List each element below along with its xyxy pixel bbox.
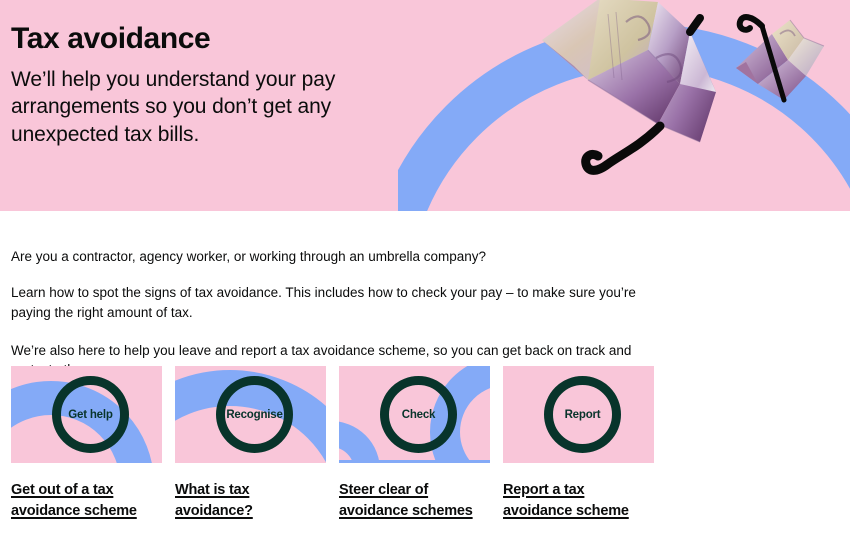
page-title: Tax avoidance — [11, 22, 411, 56]
hero-subtitle: We’ll help you understand your pay arran… — [11, 66, 411, 149]
hero-artwork — [398, 0, 850, 211]
card-badge-label: Report — [544, 376, 621, 453]
card-artwork-check: Check — [339, 366, 490, 463]
promo-card-recognise[interactable]: Recognise What is tax avoidance? — [175, 366, 326, 521]
promo-card-check[interactable]: Check Steer clear of avoidance schemes — [339, 366, 490, 521]
card-link-get-out-of-scheme[interactable]: Get out of a tax avoidance scheme — [11, 480, 162, 521]
hero-text-block: Tax avoidance We’ll help you understand … — [11, 22, 411, 149]
card-link-steer-clear[interactable]: Steer clear of avoidance schemes — [339, 480, 490, 521]
card-link-what-is-tax-avoidance[interactable]: What is tax avoidance? — [175, 480, 326, 521]
banknote-umbrella-small-icon — [728, 4, 840, 116]
card-badge-label: Get help — [52, 376, 129, 453]
promo-card-report[interactable]: Report Report a tax avoidance scheme — [503, 366, 654, 521]
intro-paragraph-2: Learn how to spot the signs of tax avoid… — [11, 267, 659, 323]
promo-card-get-help[interactable]: Get help Get out of a tax avoidance sche… — [11, 366, 162, 521]
banknote-umbrella-large-icon — [530, 0, 740, 186]
card-badge-label: Recognise — [216, 376, 293, 453]
card-artwork-get-help: Get help — [11, 366, 162, 463]
promo-card-grid: Get help Get out of a tax avoidance sche… — [11, 366, 657, 521]
card-link-report-scheme[interactable]: Report a tax avoidance scheme — [503, 480, 654, 521]
intro-paragraph-1: Are you a contractor, agency worker, or … — [11, 211, 659, 267]
card-badge-label: Check — [380, 376, 457, 453]
card-artwork-recognise: Recognise — [175, 366, 326, 463]
card-artwork-report: Report — [503, 366, 654, 463]
main-content: Are you a contractor, agency worker, or … — [0, 211, 850, 380]
hero-banner: Tax avoidance We’ll help you understand … — [0, 0, 850, 211]
